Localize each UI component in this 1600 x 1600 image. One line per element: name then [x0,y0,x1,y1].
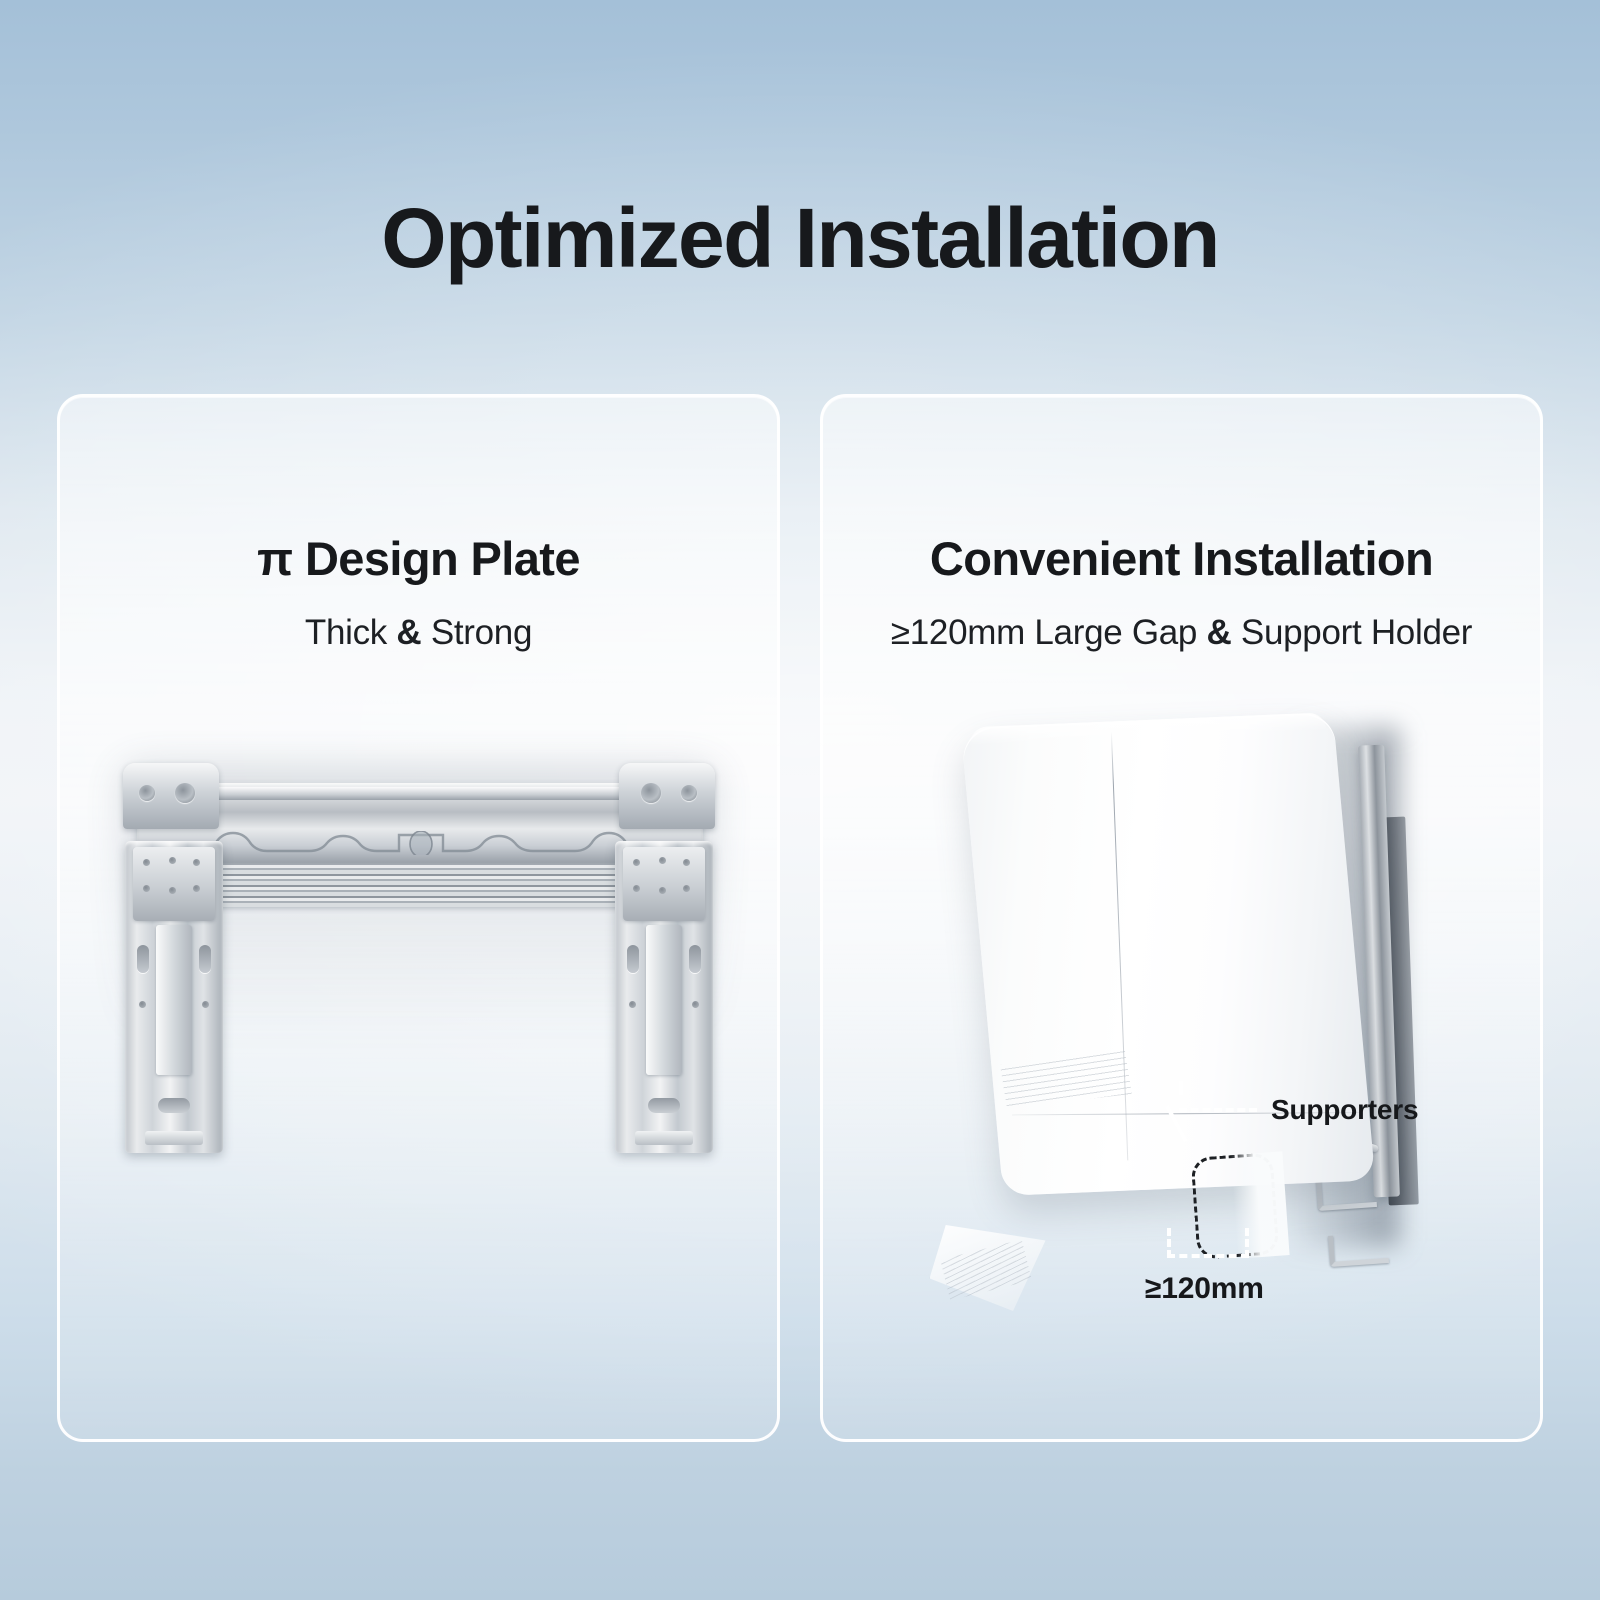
card-subtitle-ampersand: & [1207,613,1232,652]
plate-leg-center-strip [646,925,682,1075]
marketing-banner: Optimized Installation π Design Plate Th… [0,0,1600,1600]
plate-screw-hole [139,1001,146,1008]
plate-screw-hole [683,885,690,892]
gap-dimension-bracket [1167,1228,1249,1258]
plate-screw-hole [683,859,690,866]
card-subtitle-convenient-installation: ≥120mm Large Gap & Support Holder [823,613,1540,653]
ac-top-highlight [968,713,1326,746]
mounting-plate-photo [109,745,729,1165]
plate-screw-hole [193,859,200,866]
plate-slot [199,945,211,973]
plate-screw-hole [169,857,176,864]
plate-screw-hole [143,885,150,892]
supporters-leader-line [1179,1108,1257,1112]
ac-vent-louvers [999,1050,1131,1108]
plate-leg-left [125,841,223,1153]
card-subtitle-ampersand: & [396,613,421,652]
plate-slot [137,945,149,973]
card-subtitle-part-2: Strong [421,613,532,652]
card-header-convenient-installation: Convenient Installation ≥120mm Large Gap… [823,533,1540,653]
plate-screw-hole [692,1001,699,1008]
plate-hole [175,783,195,803]
plate-screw-hole [169,887,176,894]
annotation-supporters: Supporters [1179,1094,1418,1126]
plate-screw-hole [629,1001,636,1008]
gap-dimension-label: ≥120mm [1145,1272,1264,1306]
plate-oval-cutout [648,1098,680,1113]
plate-hole [641,783,661,803]
plate-screw-hole [633,859,640,866]
plate-screw-hole [143,859,150,866]
card-subtitle-part-2: Support Holder [1232,613,1473,652]
air-conditioner-unit-photo [948,697,1508,1317]
supporters-leader-tick [1179,1081,1183,1095]
plate-screw-hole [193,885,200,892]
feature-card-design-plate: π Design Plate Thick & Strong [57,394,780,1442]
plate-leg-center-strip [156,925,192,1075]
supporters-label: Supporters [1271,1094,1418,1126]
card-title-convenient-installation: Convenient Installation [823,533,1540,585]
page-title: Optimized Installation [0,196,1600,280]
plate-slot [689,945,701,973]
plate-leg-right [615,841,713,1153]
plate-rail-top-lip [143,787,697,800]
plate-screw-hole [633,885,640,892]
plate-embossed-contour [159,831,679,855]
card-subtitle-part-1: ≥120mm Large Gap [891,613,1207,652]
supporter-hook-lower [1327,1232,1388,1267]
plate-leg-foot [145,1131,203,1145]
card-subtitle-part-1: Thick [305,613,397,652]
plate-hole [139,785,155,801]
plate-leg-foot [635,1131,693,1145]
plate-screw-hole [659,887,666,894]
plate-screw-hole [202,1001,209,1008]
plate-oval-cutout [158,1098,190,1113]
feature-card-grid: π Design Plate Thick & Strong [57,394,1543,1442]
plate-corner-block-left [123,763,219,829]
card-header-design-plate: π Design Plate Thick & Strong [60,533,777,653]
card-subtitle-design-plate: Thick & Strong [60,613,777,653]
card-title-design-plate: π Design Plate [60,533,777,585]
plate-screw-hole [659,857,666,864]
plate-hole [681,785,697,801]
plate-corner-block-right [619,763,715,829]
plate-slot [627,945,639,973]
plate-rib-grooves [169,865,671,907]
